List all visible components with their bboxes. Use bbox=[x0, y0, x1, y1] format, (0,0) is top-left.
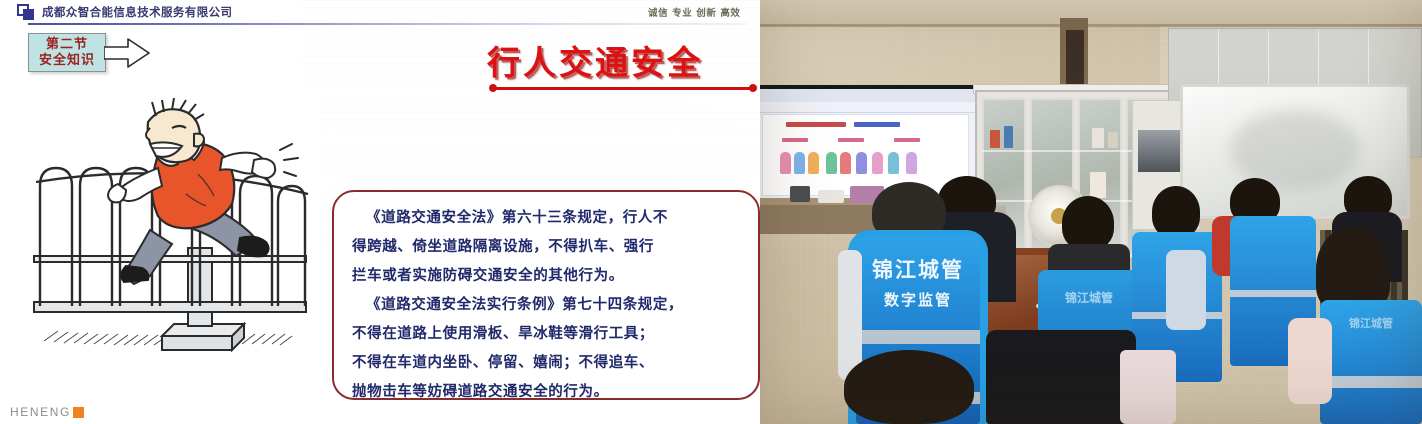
company-tagline: 诚信 专业 创新 高效 bbox=[648, 5, 741, 19]
photo-screen-figure bbox=[840, 152, 851, 174]
photo-vest-text-line1: 锦江城管 bbox=[1320, 318, 1422, 331]
title-underline-dot-right bbox=[749, 84, 757, 92]
photo-vest-reflective-stripe bbox=[1230, 290, 1316, 297]
photo-chair-back bbox=[986, 330, 1136, 424]
photo-screen-figure bbox=[794, 152, 805, 174]
slide-header: 成都众智合能信息技术服务有限公司 诚信 专业 创新 高效 bbox=[0, 0, 760, 24]
photo-screen-label bbox=[838, 138, 864, 142]
photo-screen-figure bbox=[856, 152, 867, 174]
photo-desk-object bbox=[818, 190, 844, 203]
title-underline-line bbox=[493, 87, 753, 90]
photo-screen-figure bbox=[780, 152, 791, 174]
photo-person-head bbox=[1062, 196, 1114, 250]
footer-brand-word: HENENG bbox=[10, 405, 71, 419]
photo-screen-figure bbox=[906, 152, 917, 174]
photo-screen-label bbox=[894, 138, 920, 142]
photo-cabinet-item bbox=[1108, 132, 1118, 148]
photo-screen-figure bbox=[888, 152, 899, 174]
photo-person-backpack bbox=[1166, 250, 1206, 330]
presentation-slide: 成都众智合能信息技术服务有限公司 诚信 专业 创新 高效 第二节 安全知识 行人… bbox=[0, 0, 760, 424]
photo-vest-reflective-stripe bbox=[856, 330, 980, 344]
law-line: 得跨越、倚坐道路隔离设施，不得扒车、强行 bbox=[352, 233, 742, 262]
photo-person-sleeve bbox=[838, 250, 862, 380]
photo-screen-doc-subtitle bbox=[854, 122, 900, 127]
photo-screen-doc-title bbox=[786, 122, 846, 127]
photo-cabinet-item bbox=[1092, 128, 1104, 148]
section-badge: 第二节 安全知识 bbox=[28, 33, 106, 72]
photo-screen-figure bbox=[808, 152, 819, 174]
photo-cabinet-item bbox=[1004, 126, 1013, 148]
photo-screen-label bbox=[782, 138, 808, 142]
photo-screen-figure bbox=[872, 152, 883, 174]
header-divider-rule bbox=[28, 23, 746, 25]
section-badge-line2: 安全知识 bbox=[39, 53, 95, 69]
law-text-box: 《道路交通安全法》第六十三条规定，行人不 得跨越、倚坐道路隔离设施，不得扒车、强… bbox=[332, 190, 760, 400]
right-arrow-icon bbox=[104, 38, 150, 68]
cartoon-man-climbing-guardrail bbox=[22, 98, 318, 398]
event-photograph: 锦江城管 数字监管 锦江城管 锦江城管 bbox=[760, 0, 1422, 424]
photo-ceiling bbox=[760, 0, 1422, 26]
photo-screen-figure bbox=[826, 152, 837, 174]
footer-orange-square-icon bbox=[73, 407, 84, 418]
slide-footer: HENENG bbox=[10, 404, 84, 420]
photo-vest-text-line2: 数字监管 bbox=[856, 292, 980, 309]
law-line: 拦车或者实施防碍交通安全的其他行为。 bbox=[352, 262, 742, 291]
section-badge-line1: 第二节 bbox=[46, 37, 88, 53]
law-line: 《道路交通安全法实行条例》第七十四条规定， bbox=[352, 291, 742, 320]
photo-folded-towel bbox=[1120, 350, 1176, 424]
title-underline bbox=[489, 84, 757, 93]
photo-desk-object bbox=[790, 186, 810, 202]
photo-person-sleeve bbox=[1288, 318, 1332, 404]
photo-screen-ribbon bbox=[760, 102, 976, 113]
slide-title: 行人交通安全 bbox=[430, 40, 760, 86]
photo-person-head bbox=[844, 350, 974, 424]
photo-cabinet-item bbox=[990, 130, 1000, 148]
photo-person-head bbox=[1152, 186, 1200, 238]
law-line: 不得在车道内坐卧、停留、嬉闹；不得追车、 bbox=[352, 349, 742, 378]
photo-vest-reflective-stripe bbox=[1320, 376, 1422, 388]
photo-vest-text-line1: 锦江城管 bbox=[856, 258, 980, 282]
photo-cabinet-item bbox=[1090, 172, 1106, 198]
law-line: 《道路交通安全法》第六十三条规定，行人不 bbox=[352, 204, 742, 233]
photo-screen-toolbar bbox=[760, 89, 976, 103]
double-square-logo-icon bbox=[17, 4, 34, 20]
law-line: 抛物击车等妨碍道路交通安全的行为。 bbox=[352, 378, 742, 407]
photo-vest-text-line1: 锦江城管 bbox=[1038, 292, 1140, 306]
law-line: 不得在道路上使用滑板、旱冰鞋等滑行工具； bbox=[352, 320, 742, 349]
company-name: 成都众智合能信息技术服务有限公司 bbox=[42, 4, 232, 20]
screenshot-root: 成都众智合能信息技术服务有限公司 诚信 专业 创新 高效 第二节 安全知识 行人… bbox=[0, 0, 1422, 424]
photo-ceiling-edge bbox=[760, 24, 1422, 27]
